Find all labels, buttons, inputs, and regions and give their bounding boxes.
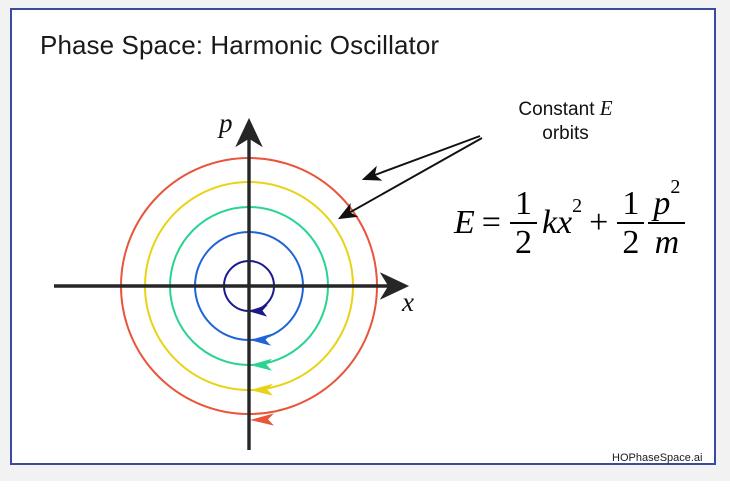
equation-momentum-symbol: p: [653, 185, 670, 222]
equation-equals: =: [475, 204, 508, 242]
orbit-direction-arrows: [248, 305, 274, 426]
axes-group: [54, 123, 404, 450]
direction-arrow-orbit-1: [248, 305, 268, 317]
constant-energy-annotation: Constant E orbits: [478, 95, 653, 146]
equation-momentum-numerator: p2: [648, 186, 685, 224]
equation-lhs: E: [454, 204, 475, 242]
direction-arrow-orbit-5: [250, 413, 274, 425]
direction-arrow-orbit-2: [250, 334, 271, 346]
equation-plus: +: [582, 204, 615, 242]
equation-half-2-denominator: 2: [617, 224, 644, 260]
p-axis-label: p: [219, 108, 233, 139]
x-axis-label: x: [402, 287, 414, 318]
annotation-line-2: orbits: [542, 123, 588, 144]
equation-half-2: 1 2: [617, 186, 644, 260]
annotation-energy-symbol: E: [600, 96, 613, 120]
direction-arrow-orbit-4: [250, 384, 273, 396]
equation-term-1-exponent: 2: [572, 195, 582, 217]
equation-term-1: kx2: [542, 204, 582, 242]
energy-equation: E = 1 2 kx2 + 1 2 p2 m: [454, 186, 687, 260]
equation-momentum-fraction: p2 m: [648, 186, 685, 260]
equation-half-1-denominator: 2: [510, 224, 537, 260]
equation-term-1-body: kx: [542, 204, 572, 241]
annotation-line-1-prefix: Constant: [518, 99, 599, 120]
equation-momentum-exponent: 2: [670, 176, 680, 198]
equation-half-2-numerator: 1: [617, 186, 644, 224]
slide-canvas: Phase Space: Harmonic Oscillator: [0, 0, 730, 481]
equation-mass-symbol: m: [650, 224, 685, 260]
slide-card: Phase Space: Harmonic Oscillator: [10, 8, 716, 465]
equation-half-1: 1 2: [510, 186, 537, 260]
equation-half-1-numerator: 1: [510, 186, 537, 224]
direction-arrow-orbit-3: [250, 359, 272, 371]
footer-watermark: HOPhaseSpace.ai: [612, 452, 703, 464]
